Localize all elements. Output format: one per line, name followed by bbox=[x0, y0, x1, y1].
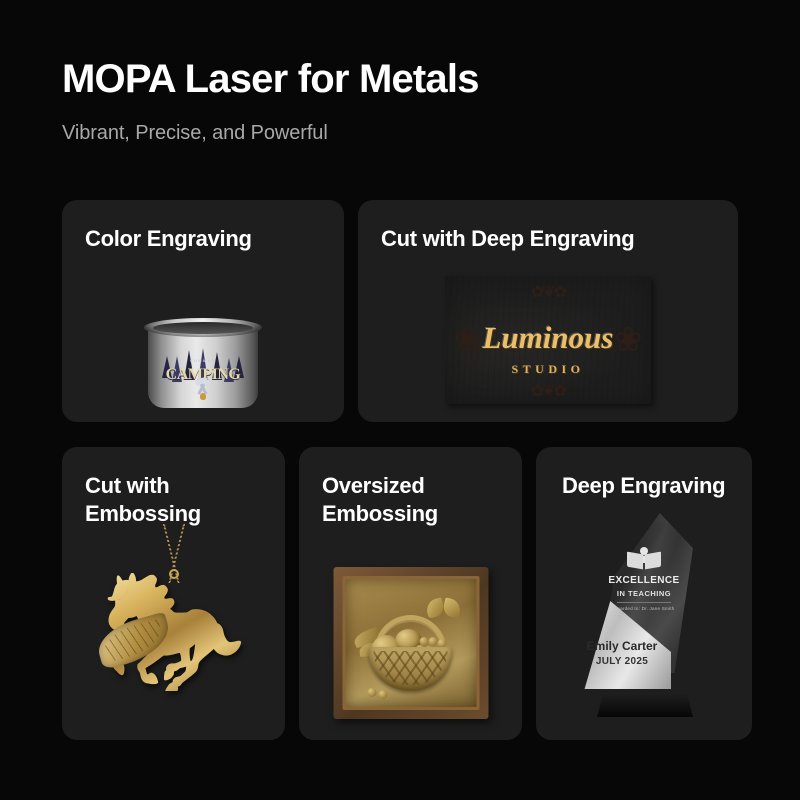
crystal-award-trophy: EXCELLENCE IN TEACHING Awarded to: Dr. J… bbox=[569, 513, 719, 725]
mug-rim bbox=[144, 318, 262, 337]
trophy-award-line-2: IN TEACHING bbox=[569, 589, 719, 598]
artwork-camping-mug: SUMMER CAMPING bbox=[62, 200, 344, 422]
trophy-base bbox=[597, 695, 693, 717]
card-deep-engraving[interactable]: Deep Engraving EXCELLENCE IN TEACHING Aw… bbox=[536, 447, 752, 740]
open-book-icon bbox=[627, 547, 661, 569]
page-subtitle: Vibrant, Precise, and Powerful bbox=[62, 122, 479, 145]
wood-plaque: ✿❦✿ ❀ ❀ Luminous STUDIO ✿❦✿ bbox=[445, 276, 651, 404]
artwork-crystal-trophy: EXCELLENCE IN TEACHING Awarded to: Dr. J… bbox=[536, 447, 752, 740]
card-cut-with-embossing[interactable]: Cut with Embossing 🐎 bbox=[62, 447, 285, 740]
wooden-picture-frame bbox=[333, 567, 488, 719]
ornament-bottom-icon: ✿❦✿ bbox=[445, 381, 651, 400]
trophy-divider bbox=[617, 602, 671, 603]
feature-card-grid: Color Engraving bbox=[62, 200, 738, 740]
card-color-engraving[interactable]: Color Engraving bbox=[62, 200, 344, 422]
promo-page: MOPA Laser for Metals Vibrant, Precise, … bbox=[0, 0, 800, 800]
relief-panel bbox=[342, 576, 479, 710]
card-oversized-embossing[interactable]: Oversized Embossing bbox=[299, 447, 522, 740]
mug-rim-inner bbox=[153, 322, 253, 334]
card-row-bottom: Cut with Embossing 🐎 Oversized Embossing bbox=[62, 447, 738, 740]
page-title: MOPA Laser for Metals bbox=[62, 58, 479, 101]
artwork-fruit-basket-relief bbox=[299, 447, 522, 740]
mug-illustration: SUMMER CAMPING bbox=[144, 318, 262, 410]
artwork-pegasus-pendant: 🐎 bbox=[62, 447, 285, 740]
ornament-top-icon: ✿❦✿ bbox=[445, 282, 651, 301]
flame-icon bbox=[200, 393, 206, 400]
plaque-name: Luminous bbox=[445, 320, 651, 356]
trophy-award-line-3: Awarded to: Dr. Jane Smith bbox=[569, 606, 719, 611]
card-row-top: Color Engraving bbox=[62, 200, 738, 422]
trophy-award-line-1: EXCELLENCE bbox=[569, 575, 719, 586]
mug-top-label: SUMMER bbox=[160, 358, 246, 363]
trophy-recipient: Emily Carter bbox=[575, 639, 669, 653]
plaque-subtitle: STUDIO bbox=[445, 362, 651, 377]
bow-icon bbox=[426, 599, 460, 619]
mug-artwork: SUMMER CAMPING bbox=[160, 344, 246, 396]
trophy-date: JULY 2025 bbox=[575, 656, 669, 667]
pegasus-pendant: 🐎 bbox=[89, 529, 259, 729]
artwork-wooden-plaque: ✿❦✿ ❀ ❀ Luminous STUDIO ✿❦✿ bbox=[358, 200, 738, 422]
card-cut-with-deep-engraving[interactable]: Cut with Deep Engraving ✿❦✿ ❀ ❀ Luminous… bbox=[358, 200, 738, 422]
hero-section: MOPA Laser for Metals Vibrant, Precise, … bbox=[62, 58, 479, 145]
basket-icon bbox=[369, 647, 453, 691]
